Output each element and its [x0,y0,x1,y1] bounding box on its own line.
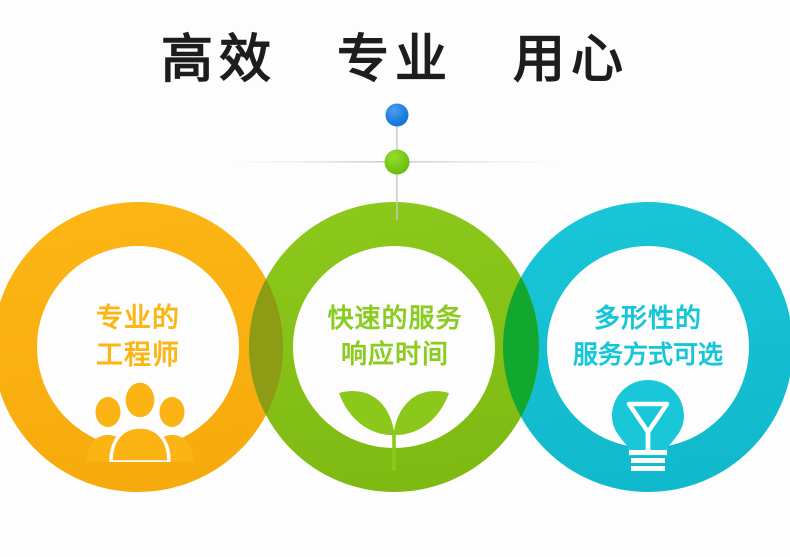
headline-word-2: 专业 [337,34,453,86]
circle-label-line2: 工程师 [23,337,253,374]
circle-label-line1: 快速的服务 [280,302,510,338]
circle-label-line1: 专业的 [23,300,253,337]
headline-word-3: 用心 [513,34,629,86]
headline-word-1: 高效 [161,34,277,86]
infographic-canvas: 高效 专业 用心 [0,0,790,557]
circle-label-engineers: 专业的 工程师 [23,300,253,375]
lightbulb-icon [603,378,693,476]
circle-label-line1: 多形性的 [533,302,763,338]
sprout-leaf-icon [331,379,457,471]
circle-label-service-options: 多形性的 服务方式可选 [533,302,763,372]
circle-label-line2: 服务方式可选 [533,338,763,373]
headline: 高效 专业 用心 [0,34,790,86]
three-people-icon [86,382,194,462]
circle-label-response-time: 快速的服务 响应时间 [280,302,510,374]
circle-label-line2: 响应时间 [280,338,510,374]
